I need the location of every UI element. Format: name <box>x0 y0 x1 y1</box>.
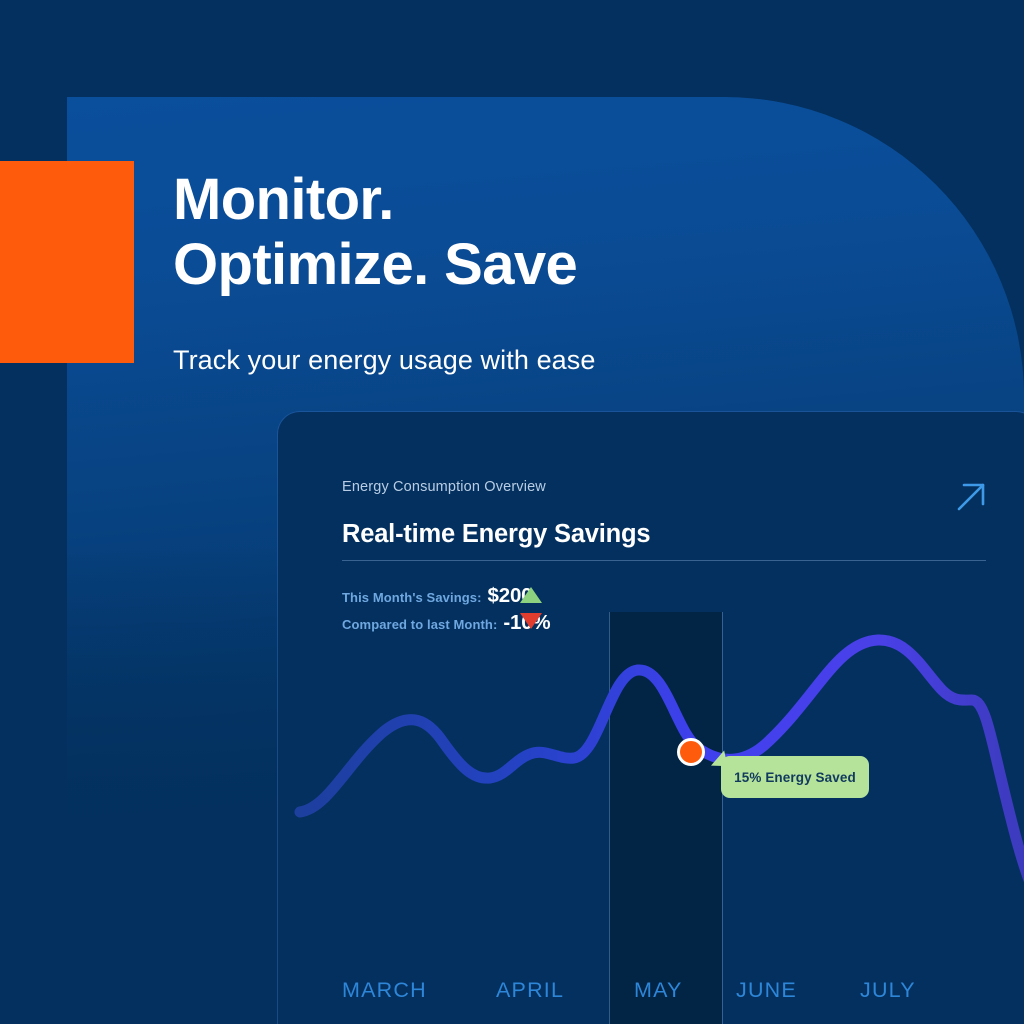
month-label-july[interactable]: JULY <box>860 978 916 1003</box>
dashboard-card: Energy Consumption Overview Real-time En… <box>278 412 1024 1024</box>
orange-accent-square <box>0 161 134 363</box>
promo-canvas: Monitor. Optimize. Save Track your energ… <box>0 0 1024 1024</box>
data-point-marker[interactable] <box>677 738 705 766</box>
stat-label-this-month: This Month's Savings: <box>342 590 482 605</box>
card-divider <box>342 560 986 561</box>
arrow-up-right-icon[interactable] <box>949 475 993 519</box>
stat-row-this-month: This Month's Savings: $200 <box>342 584 642 611</box>
hero-headline-line-2: Optimize. Save <box>173 233 813 298</box>
triangle-up-icon <box>520 587 542 603</box>
energy-saved-tooltip-label: 15% Energy Saved <box>734 770 856 785</box>
card-header: Energy Consumption Overview Real-time En… <box>342 479 962 549</box>
hero-subheadline: Track your energy usage with ease <box>173 298 813 376</box>
month-axis: MARCH APRIL MAY JUNE JULY <box>278 978 1024 1012</box>
hero-headline-line-1: Monitor. <box>173 167 394 232</box>
chart-line-svg <box>278 612 1024 1024</box>
month-label-april[interactable]: APRIL <box>496 978 564 1003</box>
energy-chart: 15% Energy Saved MARCH APRIL MAY JUNE JU… <box>278 612 1024 1024</box>
month-label-may[interactable]: MAY <box>634 978 683 1003</box>
card-title: Real-time Energy Savings <box>342 495 962 549</box>
card-eyebrow: Energy Consumption Overview <box>342 479 962 495</box>
month-label-march[interactable]: MARCH <box>342 978 427 1003</box>
hero-text-block: Monitor. Optimize. Save Track your energ… <box>173 168 813 376</box>
hero-headline: Monitor. Optimize. Save <box>173 168 813 298</box>
energy-saved-tooltip[interactable]: 15% Energy Saved <box>721 756 869 798</box>
month-label-june[interactable]: JUNE <box>736 978 797 1003</box>
